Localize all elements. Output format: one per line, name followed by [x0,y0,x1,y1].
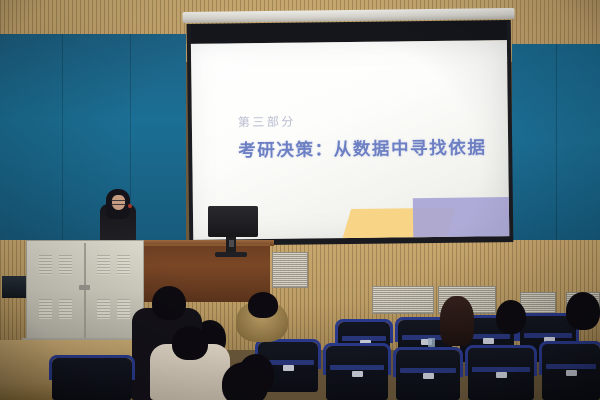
slide-title: 考研决策：从数据中寻找依据 [238,134,487,162]
presenter-microphone [128,204,132,208]
seat [52,358,132,400]
seat [396,350,460,400]
seat [326,346,388,400]
monitor-badge [229,240,234,247]
audience-head-foreground [222,362,268,400]
audience-member-long-hair [440,296,474,346]
audience-head [496,300,526,334]
monitor-stand-foot [215,252,247,257]
podium-desk [128,244,270,302]
audience-head [152,286,186,320]
slide-section-label: 第三部分 [238,113,296,131]
audience-head [172,326,208,360]
slide-decor-purple-shape [413,197,509,240]
grey-equipment-cabinet [26,240,144,342]
wall-vent-center [372,286,434,314]
audience-head [248,292,278,318]
seat [468,348,534,400]
podium-monitor [208,206,258,237]
lecture-hall-photo: 第三部分 考研决策：从数据中寻找依据 [0,0,600,400]
seat [542,344,600,400]
left-teal-wall-panel [0,34,186,249]
presenter-glasses [111,200,126,205]
wall-vent-center-left [272,252,308,288]
right-teal-wall-panel [512,44,600,254]
phone-screen-glow [428,338,435,347]
audience-head [566,292,600,330]
